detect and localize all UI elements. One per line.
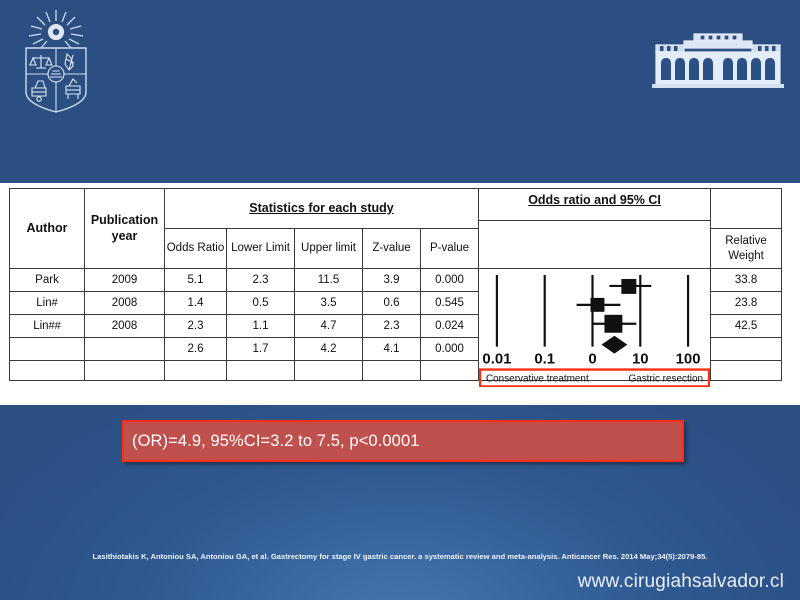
slide-canvas: Author Publication year Statistics for e… [0,0,800,600]
axis-left-label: Conservative treatment [486,374,589,385]
hospital-building-logo [648,28,788,90]
cell-weight: 42.5 [711,315,782,338]
cell-p: 0.545 [421,292,479,315]
header-lower-limit-label: Lower Limit [231,242,290,254]
footer-cell-lower [227,361,295,381]
header-spacer-cell [711,189,782,229]
cell-lower: 1.1 [227,315,295,338]
header-upper-limit: Upper limit [295,229,363,269]
forest-plot-cell: 0.01 0.1 0 10 100 Conservative treatment… [479,269,711,381]
cell-year: 2008 [85,315,165,338]
cell-author-sup: # [52,297,58,309]
cell-author: Lin## [10,315,85,338]
cell-z: 2.3 [363,315,421,338]
footer-cell-p [421,361,479,381]
cell-year: 2009 [85,269,165,292]
cell-odds-ratio: 5.1 [165,269,227,292]
forest-plot-chart: 0.01 0.1 0 10 100 Conservative treatment… [479,269,710,387]
footer-cell-z [363,361,421,381]
cell-lower: 2.3 [227,269,295,292]
cell-year: 2008 [85,292,165,315]
header-statistics-group: Statistics for each study [165,189,479,229]
cell-upper: 3.5 [295,292,363,315]
cell-lower: 1.7 [227,338,295,361]
cell-odds-ratio: 1.4 [165,292,227,315]
cell-z: 0.6 [363,292,421,315]
cell-z: 3.9 [363,269,421,292]
header-statistics-label: Statistics for each study [249,201,394,215]
tick-label-2: 0 [588,351,596,368]
footer-cell-upper [295,361,363,381]
coat-of-arms-icon [14,8,98,116]
tick-label-1: 0.1 [534,351,555,368]
forest-plot-header-cell: Odds ratio and 95% CI [479,189,711,269]
cell-upper: 4.2 [295,338,363,361]
citation-text: Lasithiotakis K, Antoniou SA, Antoniou G… [40,551,760,562]
table-row: Park 2009 5.1 2.3 11.5 3.9 0.000 [10,269,782,292]
footer-cell-odds-ratio [165,361,227,381]
cell-p: 0.000 [421,338,479,361]
forest-marker-study-3 [604,315,622,333]
cell-upper: 11.5 [295,269,363,292]
cell-p: 0.024 [421,315,479,338]
forest-summary-diamond [601,336,627,354]
cell-odds-ratio: 2.3 [165,315,227,338]
cell-author-text: Park [35,274,59,286]
header-odds-ratio-plot-label: Odds ratio and 95% CI [528,193,661,207]
header-z-value: Z-value [363,229,421,269]
header-z-value-label: Z-value [372,242,410,254]
cell-p: 0.000 [421,269,479,292]
cell-weight: 33.8 [711,269,782,292]
forest-marker-study-2 [591,298,605,312]
cell-weight [711,338,782,361]
cell-lower: 0.5 [227,292,295,315]
cell-upper: 4.7 [295,315,363,338]
cell-author-text: Lin [36,297,51,309]
tick-label-0: 0.01 [482,351,511,368]
cell-author-sup: ## [49,320,61,332]
header-relative-weight: Relative Weight [711,229,782,269]
footer-cell-author [10,361,85,381]
header-p-value: P-value [421,229,479,269]
cell-odds-ratio: 2.6 [165,338,227,361]
cell-author-text: Lin [33,320,48,332]
header-author: Author [10,189,85,269]
tick-label-3: 10 [632,351,649,368]
meta-analysis-table: Author Publication year Statistics for e… [9,188,782,381]
header-lower-limit: Lower Limit [227,229,295,269]
forest-plot-table-panel: Author Publication year Statistics for e… [0,183,800,405]
cell-weight: 23.8 [711,292,782,315]
header-odds-ratio-label: Odds Ratio [167,242,225,254]
cell-z: 4.1 [363,338,421,361]
header-publication-year-label: Publication year [91,213,158,242]
header-upper-limit-label: Upper limit [301,242,356,254]
result-callout-banner: (OR)=4.9, 95%CI=3.2 to 7.5, p<0.0001 [122,420,684,462]
header-p-value-label: P-value [430,242,469,254]
university-of-chile-logo [14,8,98,116]
tick-label-4: 100 [676,351,701,368]
website-url[interactable]: www.cirugiahsalvador.cl [578,571,784,593]
cell-author [10,338,85,361]
footer-cell-year [85,361,165,381]
footer-cell-weight [711,361,782,381]
header-author-label: Author [27,221,68,235]
axis-right-label: Gastric resection [628,374,703,385]
table-header-row-1: Author Publication year Statistics for e… [10,189,782,229]
cell-author: Lin# [10,292,85,315]
header-relative-weight-label: Relative Weight [725,235,767,261]
forest-marker-study-1 [621,279,636,294]
header-publication-year: Publication year [85,189,165,269]
cell-year [85,338,165,361]
building-facade-icon [648,28,788,90]
cell-author: Park [10,269,85,292]
header-odds-ratio: Odds Ratio [165,229,227,269]
result-callout-text: (OR)=4.9, 95%CI=3.2 to 7.5, p<0.0001 [124,432,420,451]
